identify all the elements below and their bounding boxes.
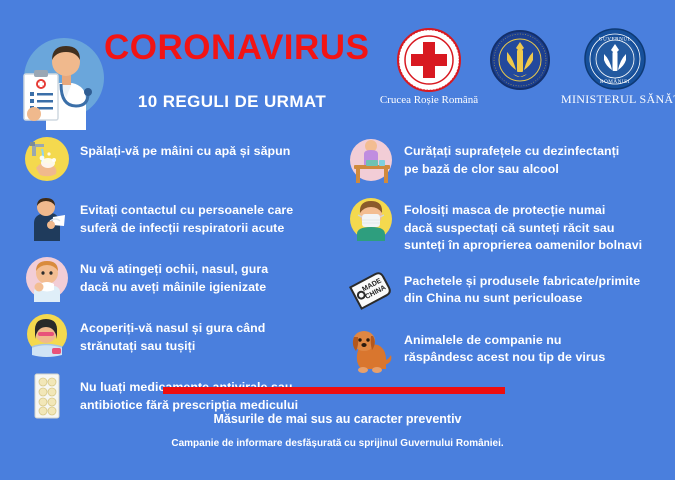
disinfect-surfaces-icon [346,136,396,184]
rule-text: Acoperiți-vă nasul și gura când strănuta… [80,313,265,355]
rule-item: Animalele de companie nu răspândesc aces… [346,325,668,373]
rule-item: Nu vă atingeți ochii, nasul, gura dacă n… [22,254,342,302]
logo-caption-ministry-of-health: MINISTERUL SĂNĂTĂȚII [561,92,669,107]
rules-column-right: Curățați suprafețele cu dezinfectanți pe… [346,136,668,384]
partner-logos: Crucea Roșie Română [365,28,665,128]
rule-text: Nu vă atingeți ochii, nasul, gura dacă n… [80,254,268,296]
face-mask-icon [346,195,396,243]
rule-text: Curățați suprafețele cu dezinfectanți pe… [404,136,619,178]
coronavirus-infographic-poster: CORONAVIRUS 10 REGULI DE URMAT Crucea Ro… [0,0,675,480]
footer-main-text: Măsurile de mai sus au caracter preventi… [0,412,675,426]
logo-government-romania: GUVERNUL ROMÂNIEI MINISTERUL SĂNĂTĂȚII [561,28,669,107]
doctor-with-clipboard-illustration [14,28,106,130]
footer-divider [163,387,505,394]
rule-text: Pachetele și produsele fabricate/primite… [404,266,640,308]
made-in-china-price-tag-icon: MADE CHINA [346,266,396,314]
rule-item: MADE CHINA Pachetele și produsele fabric… [346,266,668,314]
do-not-touch-face-icon [22,254,72,302]
rule-text: Folosiți masca de protecție numai dacă s… [404,195,642,255]
rule-item: Folosiți masca de protecție numai dacă s… [346,195,668,255]
svg-text:ROMÂNIEI: ROMÂNIEI [600,77,630,85]
rule-text: Animalele de companie nu răspândesc aces… [404,325,605,367]
page-title: CORONAVIRUS [104,30,360,67]
cover-mouth-when-sneezing-icon [22,313,72,361]
washing-hands-with-soap-icon [22,136,72,184]
title-block: CORONAVIRUS 10 REGULI DE URMAT [104,30,360,112]
svg-text:GUVERNUL: GUVERNUL [599,37,632,43]
rule-item: Spălați-vă pe mâini cu apă și săpun [22,136,342,184]
rule-item: Curățați suprafețele cu dezinfectanți pe… [346,136,668,184]
rule-text: Evitați contactul cu persoanele care suf… [80,195,293,237]
footer-sub-text: Campanie de informare desfășurată cu spr… [0,438,675,449]
logo-caption-red-cross: Crucea Roșie Română [375,94,483,106]
sick-person-sneezing-icon [22,195,72,243]
rule-item: Acoperiți-vă nasul și gura când strănuta… [22,313,342,361]
page-subtitle: 10 REGULI DE URMAT [104,92,360,112]
rule-item: Evitați contactul cu persoanele care suf… [22,195,342,243]
logo-red-cross-romania: Crucea Roșie Română [375,28,483,106]
logo-dsu-seal [475,30,565,90]
pet-dog-icon [346,325,396,373]
rule-text: Spălați-vă pe mâini cu apă și săpun [80,136,290,161]
